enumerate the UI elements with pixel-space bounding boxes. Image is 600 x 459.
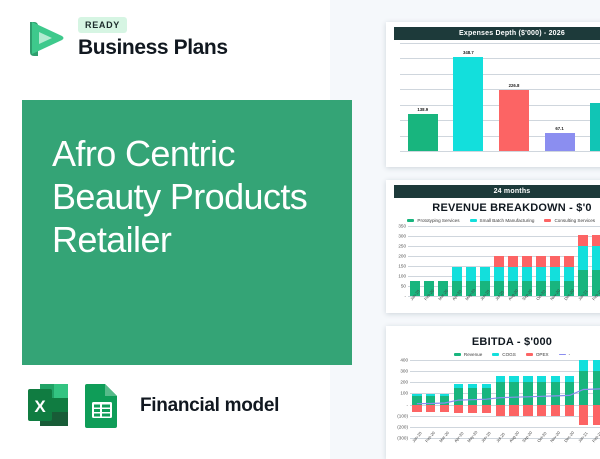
y-axis-tick: 300 [400,369,408,374]
bar-segment [494,267,503,281]
bar-segment [482,384,491,388]
bar-slot: Sep-20 [520,226,534,296]
file-format-bar: X Financial model [26,382,279,430]
x-axis-tick: Jan-21 [577,431,589,444]
bar-segment [509,382,518,405]
y-axis-tick: 250 [398,244,406,249]
bar-value-label: 348.7 [463,50,474,55]
x-axis-tick: Jun-20 [480,431,492,444]
ebitda-chart-title: EBITDA - $'000 [386,336,600,348]
bar-segment [440,396,449,404]
y-axis-tick: - [404,294,406,299]
legend-swatch [454,353,461,356]
x-axis-tick: Sep-20 [521,430,533,443]
bar-segment [412,394,421,396]
bar-group: 138.9348.7226.867.1176.5 [400,43,600,151]
bar-slot: 226.8 [491,43,537,151]
bar-slot: Jan-20 [408,226,422,296]
bar-segment [593,360,600,371]
bar-segment [592,246,600,270]
y-axis-tick: 150 [398,264,406,269]
legend-label: Consulting Services [554,218,595,223]
legend-swatch [407,219,414,222]
bar-segment [496,382,505,405]
bar-segment [537,382,546,405]
bar-slot: Aug-20 [507,360,521,438]
bar-segment [426,394,435,396]
ebitda-plot-area: 400300200100-(100)(200)(300)Jan-20Feb-20… [410,360,600,438]
grid-line [400,151,600,152]
bar-group: Jan-20Feb-20Mar-20Apr-20May-20Jun-20Jul-… [410,360,600,438]
bar-segment [522,256,531,267]
bar-segment [579,405,588,426]
legend-item: - [559,352,571,357]
page-title: Afro Centric Beauty Products Retailer [52,132,342,261]
legend-swatch [559,354,566,356]
x-axis-tick: Jul-20 [495,432,506,444]
bar-segment [509,405,518,417]
bar-segment [468,388,477,404]
bar-slot: Jul-20 [493,360,507,438]
y-axis-tick: 100 [400,391,408,396]
bar-segment [579,360,588,371]
bar [408,114,438,152]
bar-value-label: 67.1 [555,126,563,131]
legend-label: OPEX [536,352,549,357]
legend-item: Consulting Services [544,218,595,223]
y-axis-tick: 100 [398,274,406,279]
y-axis-tick: (200) [397,424,408,429]
revenue-plot-area: 35030025020015010050-Jan-20Feb-20Mar-20A… [408,226,600,296]
bar-value-label: 138.9 [417,107,428,112]
bar-segment [482,388,491,404]
bar-segment [565,376,574,382]
chart-card-ebitda[interactable]: EBITDA - $'000 RevenueCOGSOPEX- 40030020… [386,326,600,459]
svg-text:X: X [34,397,46,416]
bar-value-label: 226.8 [509,83,520,88]
expenses-plot-area: 138.9348.7226.867.1176.5 [400,43,600,151]
bar-slot: Aug-20 [506,226,520,296]
bar-segment [412,396,421,404]
bar-segment [452,267,461,281]
bar-slot: Apr-20 [450,226,464,296]
bar-slot: Feb-21 [590,226,600,296]
bar-segment [537,405,546,417]
bar-segment [454,388,463,404]
bar-segment [537,376,546,382]
bar-segment [440,394,449,396]
legend-swatch [526,353,533,356]
bar-segment [468,384,477,388]
legend-item: Revenue [454,352,482,357]
bar-segment [454,384,463,388]
bar-segment [578,246,587,270]
y-axis-tick: - [406,402,408,407]
x-axis-tick: Feb-20 [424,430,436,443]
legend-swatch [492,353,499,356]
x-axis-tick: Dec-20 [563,430,575,443]
bar-segment [426,396,435,404]
bar-segment [496,376,505,382]
legend-item: Small Batch Manufacturing [470,218,535,223]
bar-slot: Sep-20 [521,360,535,438]
y-axis-tick: (100) [397,413,408,418]
bar-segment [564,256,573,267]
bar-segment [593,405,600,426]
bar-slot: 348.7 [446,43,492,151]
bar-slot: Jun-20 [479,360,493,438]
y-axis-tick: 200 [400,380,408,385]
bar-slot: Oct-20 [534,226,548,296]
x-axis-tick: Oct-20 [536,431,548,443]
bar-segment [509,376,518,382]
x-axis-tick: Apr-20 [453,431,465,443]
bar-segment [508,256,517,267]
poster-canvas: READY Business Plans Afro Centric Beauty… [0,0,600,459]
x-axis-tick: Feb-21 [591,430,600,443]
x-axis-tick: Mar-20 [438,430,450,443]
y-axis-tick: 400 [400,358,408,363]
bar-segment [550,267,559,281]
x-axis-tick: Aug-20 [508,430,520,443]
microsoft-excel-icon[interactable]: X [26,382,70,430]
bar-segment [578,235,587,246]
bar [499,90,529,151]
bar-slot: 67.1 [537,43,583,151]
bar-segment [551,382,560,405]
legend-label: Revenue [464,352,482,357]
bar-segment [440,405,449,412]
bar-slot: Nov-20 [549,360,563,438]
bar-segment [551,376,560,382]
bar-segment [522,267,531,281]
bar-segment [593,371,600,405]
bar-segment [508,267,517,281]
bar-segment [426,405,435,412]
bar-segment [466,267,475,281]
revenue-banner: 24 months [394,185,600,198]
legend-item: COGS [492,352,516,357]
bar-segment [536,256,545,267]
bar-segment [536,267,545,281]
chart-card-revenue-breakdown[interactable]: 24 months REVENUE BREAKDOWN - $'0 Protot… [386,180,600,313]
x-axis-tick: Nov-20 [549,430,561,443]
bar-segment [551,405,560,417]
bar-segment [523,405,532,417]
bar-segment [496,405,505,417]
legend-swatch [470,219,477,222]
play-triangle-logo-icon [22,14,68,60]
bar-slot: 176.5 [582,43,600,151]
expenses-chart-title: Expenses Depth ($'000) - 2026 [394,27,600,40]
revenue-chart-title: REVENUE BREAKDOWN - $'0 [386,202,600,214]
chart-card-expenses[interactable]: Expenses Depth ($'000) - 2026 138.9348.7… [386,22,600,167]
bar-segment [454,405,463,414]
bar [545,133,575,151]
bar-segment [579,371,588,405]
bar-group: Jan-20Feb-20Mar-20Apr-20May-20Jun-20Jul-… [408,226,600,296]
bar-slot: Feb-21 [590,360,600,438]
bar-segment [565,405,574,417]
bar-segment [564,267,573,281]
ready-badge: READY [78,17,127,33]
bar-segment [523,382,532,405]
y-axis-tick: 50 [401,284,406,289]
x-axis-tick: May-20 [466,430,478,443]
bar-slot: Mar-20 [438,360,452,438]
bar-segment [565,382,574,405]
bar-segment [468,405,477,414]
bar-slot: Nov-20 [548,226,562,296]
bar-slot: Jul-20 [492,226,506,296]
hero-panel: Afro Centric Beauty Products Retailer [22,100,352,365]
y-axis-tick: (300) [397,436,408,441]
bar-slot: Dec-20 [563,360,577,438]
bar-segment [550,256,559,267]
revenue-legend: Prototyping ServicesSmall Batch Manufact… [386,218,600,223]
bar-slot: Feb-20 [422,226,436,296]
bar-slot: Jan-21 [577,360,591,438]
bar [453,57,483,151]
bar-slot: Jan-21 [576,226,590,296]
bar-slot: Jan-20 [410,360,424,438]
bar-slot: Feb-20 [424,360,438,438]
legend-label: Prototyping Services [417,218,459,223]
x-axis-tick: Jan-20 [411,431,423,444]
brand-name: Business Plans [78,36,228,60]
bar-slot: 138.9 [400,43,446,151]
y-axis-tick: 300 [398,234,406,239]
bar-slot: Apr-20 [452,360,466,438]
bar-segment [482,405,491,414]
legend-item: OPEX [526,352,549,357]
legend-item: Prototyping Services [407,218,459,223]
ebitda-legend: RevenueCOGSOPEX- [386,352,600,357]
bar [590,103,600,151]
legend-swatch [544,219,551,222]
y-axis-tick: 200 [398,254,406,259]
google-sheets-icon[interactable] [82,382,122,430]
bar-slot: Oct-20 [535,360,549,438]
bar-segment [592,235,600,246]
legend-label: Small Batch Manufacturing [480,218,535,223]
bar-slot: May-20 [464,226,478,296]
y-axis-tick: 350 [398,224,406,229]
bar-slot: Mar-20 [436,226,450,296]
bar-slot: Dec-20 [562,226,576,296]
file-format-label: Financial model [140,395,279,417]
bar-slot: May-20 [466,360,480,438]
brand-logo[interactable]: READY Business Plans [22,14,228,60]
legend-label: COGS [502,352,516,357]
bar-slot: Jun-20 [478,226,492,296]
bar-segment [523,376,532,382]
legend-label: - [569,352,571,357]
bar-segment [480,267,489,281]
bar-segment [412,405,421,412]
bar-segment [494,256,503,267]
